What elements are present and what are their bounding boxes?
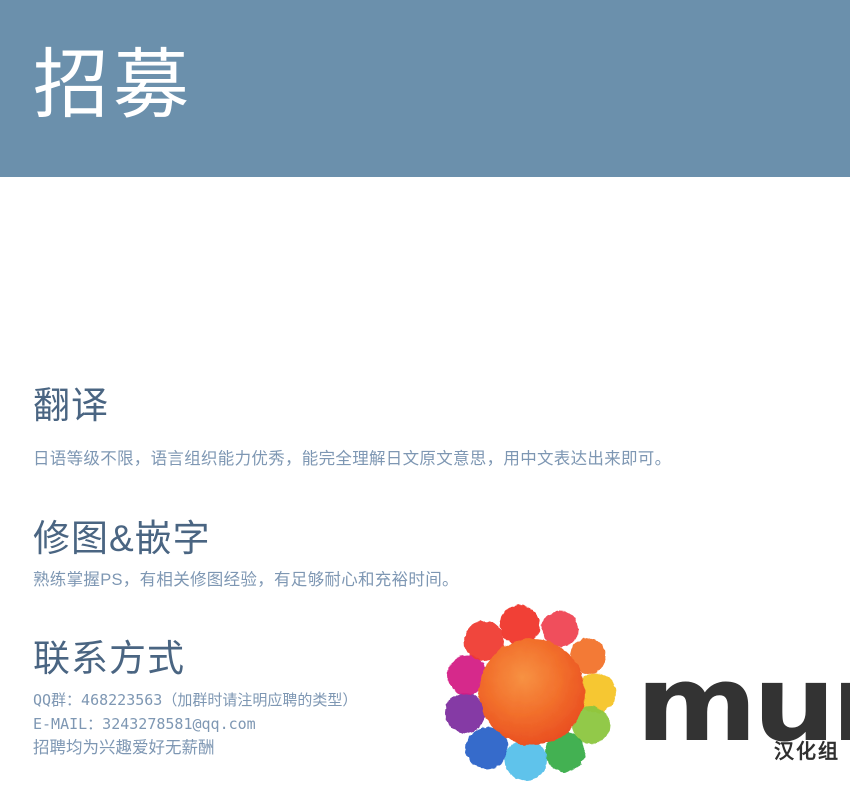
header-band: 招募 (0, 0, 850, 177)
logo: mum 汉化组 (440, 600, 850, 800)
logo-watercolor-mark (440, 600, 645, 800)
contact-line-email: E-MAIL：3243278581@qq.com (33, 712, 357, 736)
section-retouch: 修图&嵌字 熟练掌握PS，有相关修图经验，有足够耐心和充裕时间。 (33, 516, 459, 593)
section-heading-retouch: 修图&嵌字 (33, 516, 459, 562)
section-heading-translate: 翻译 (33, 383, 671, 429)
logo-subtitle: 汉化组 (774, 735, 840, 764)
contact-line-qq: QQ群：468223563（加群时请注明应聘的类型） (33, 688, 357, 712)
section-translate: 翻译 日语等级不限，语言组织能力优秀，能完全理解日文原文意思，用中文表达出来即可… (33, 383, 671, 472)
section-body-translate: 日语等级不限，语言组织能力优秀，能完全理解日文原文意思，用中文表达出来即可。 (33, 447, 671, 472)
contact-line-note: 招聘均为兴趣爱好无薪酬 (33, 736, 357, 760)
section-heading-contact: 联系方式 (33, 636, 357, 682)
contact-lines: QQ群：468223563（加群时请注明应聘的类型） E-MAIL：324327… (33, 688, 357, 760)
logo-center-blob (479, 639, 585, 745)
section-contact: 联系方式 QQ群：468223563（加群时请注明应聘的类型） E-MAIL：3… (33, 636, 357, 760)
section-body-retouch: 熟练掌握PS，有相关修图经验，有足够耐心和充裕时间。 (33, 568, 459, 593)
page-title: 招募 (33, 40, 193, 132)
